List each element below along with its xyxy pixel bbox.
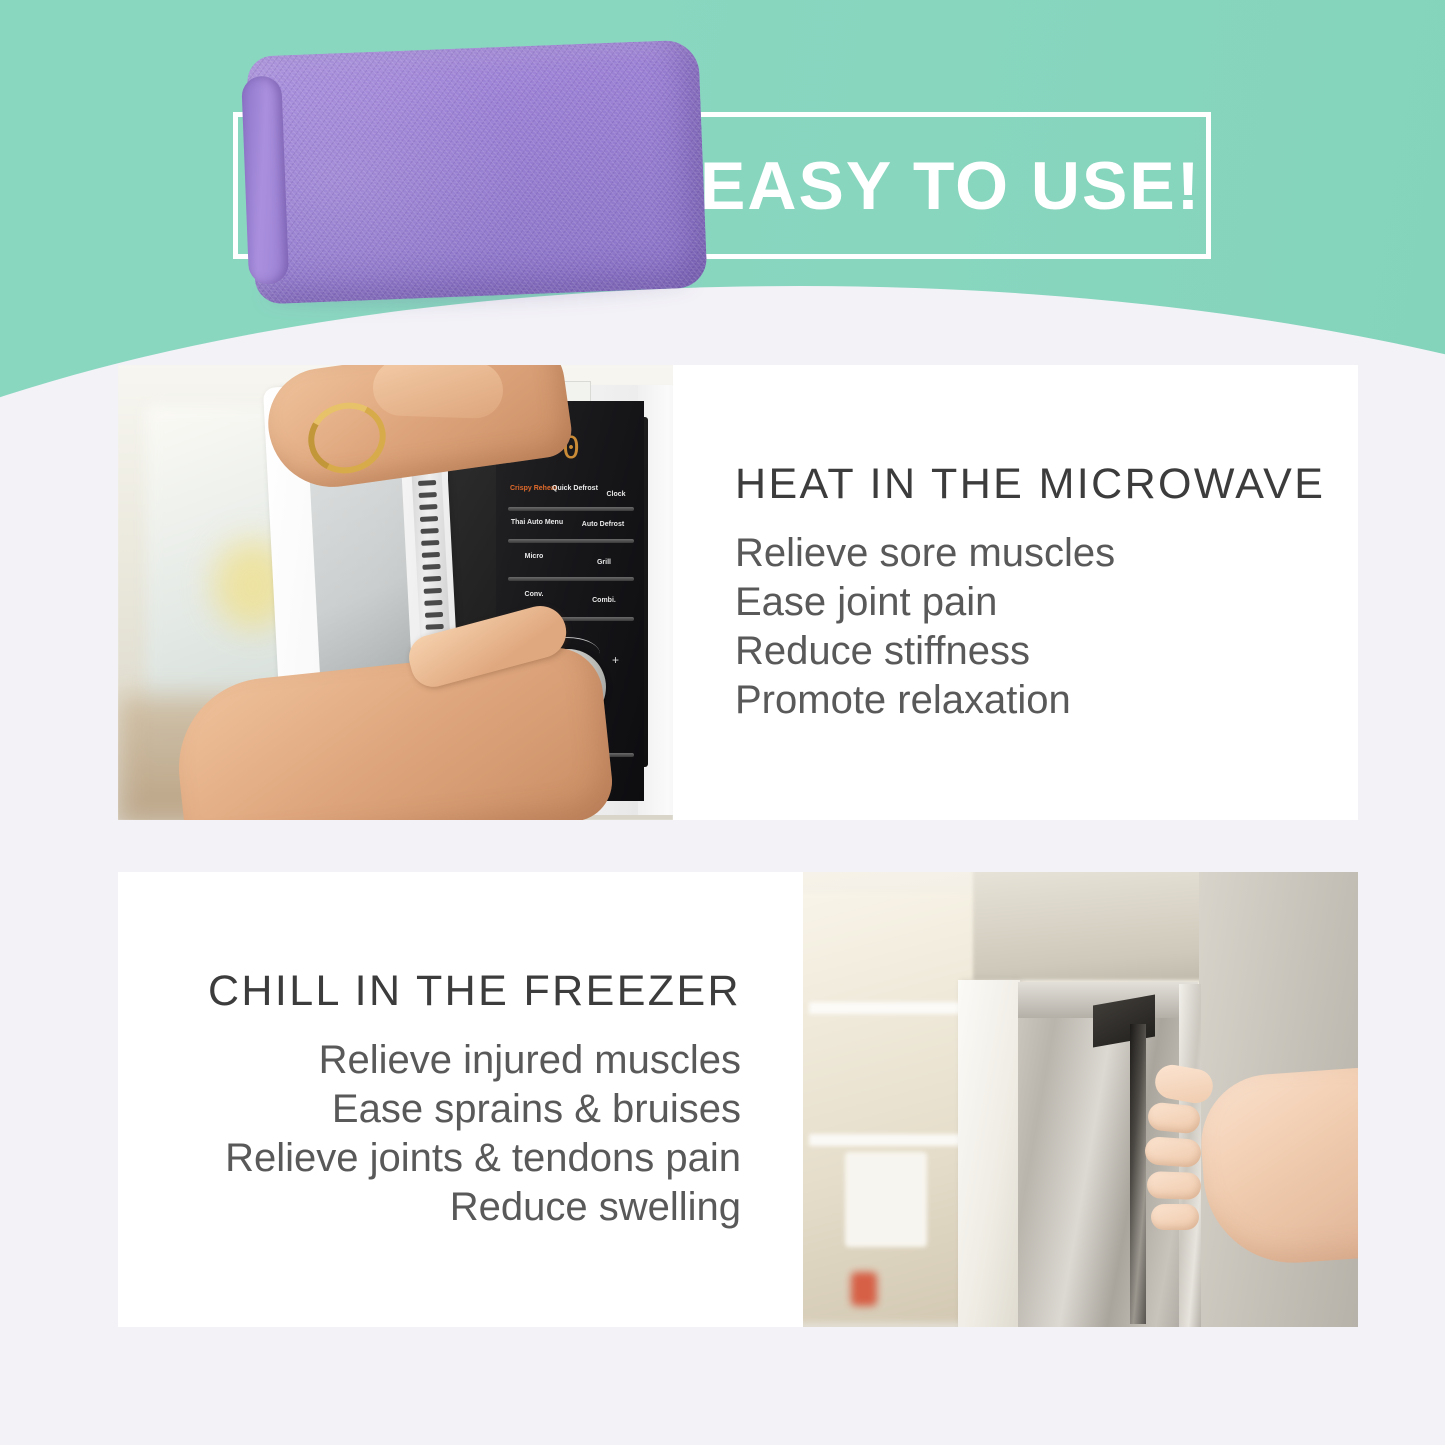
chill-section-card: CHILL IN THE FREEZER Relieve injured mus… (118, 872, 1358, 1327)
chill-text-block: CHILL IN THE FREEZER Relieve injured mus… (118, 967, 803, 1233)
hand-finger (1147, 1171, 1202, 1200)
panel-button-auto-defrost[interactable]: Auto Defrost (572, 521, 634, 528)
list-item: Reduce stiffness (735, 627, 1358, 676)
freezer-door-handle[interactable] (1130, 1024, 1146, 1324)
panel-separator-1 (508, 507, 634, 511)
heat-text-column: HEAT IN THE MICROWAVE Relieve sore muscl… (673, 365, 1358, 820)
chill-benefit-list: Relieve injured muscles Ease sprains & b… (118, 1036, 741, 1233)
panel-separator-2 (508, 539, 634, 543)
panel-button-quick-defrost[interactable]: Quick Defrost (552, 485, 594, 492)
freezer-scene (803, 872, 1358, 1327)
panel-button-micro[interactable]: Micro (514, 553, 554, 560)
list-item: Ease joint pain (735, 578, 1358, 627)
list-item: Ease sprains & bruises (118, 1085, 741, 1134)
panel-button-thai-auto-menu[interactable]: Thai Auto Menu (504, 519, 570, 526)
heat-text-block: HEAT IN THE MICROWAVE Relieve sore muscl… (673, 460, 1358, 726)
hand-finger (1151, 1204, 1199, 1230)
panel-separator-3 (508, 577, 634, 581)
panel-button-clock[interactable]: Clock (598, 491, 634, 498)
panel-button-crispy-reheat[interactable]: Crispy Reheat (510, 485, 550, 492)
microwave-photo: 0 Crispy Reheat Quick Defrost Clock Thai… (118, 365, 673, 820)
product-body (246, 39, 707, 304)
upper-hand-fingers (372, 365, 504, 419)
page-title: EASY TO USE! (700, 140, 1200, 232)
list-item: Relieve sore muscles (735, 529, 1358, 578)
freezer-photo (803, 872, 1358, 1327)
heat-benefit-list: Relieve sore muscles Ease joint pain Red… (735, 529, 1358, 726)
heat-section-card: 0 Crispy Reheat Quick Defrost Clock Thai… (118, 365, 1358, 820)
fridge-red-item (851, 1272, 877, 1306)
chill-text-column: CHILL IN THE FREEZER Relieve injured mus… (118, 872, 803, 1327)
fridge-bin (845, 1152, 927, 1247)
dial-plus-label: + (612, 653, 619, 667)
heat-heading: HEAT IN THE MICROWAVE (735, 460, 1358, 509)
list-item: Relieve injured muscles (118, 1036, 741, 1085)
list-item: Relieve joints & tendons pain (118, 1134, 741, 1183)
product-infographic: EASY TO USE! (0, 0, 1445, 1445)
list-item: Promote relaxation (735, 676, 1358, 725)
panel-button-combi[interactable]: Combi. (584, 597, 624, 604)
freezer-door-inner-edge (958, 980, 1020, 1327)
product-fleece-texture (246, 39, 707, 304)
panel-button-conv[interactable]: Conv. (514, 591, 554, 598)
product-folded-edge (241, 75, 289, 284)
hand-finger (1144, 1136, 1202, 1168)
list-item: Reduce swelling (118, 1183, 741, 1232)
microwave-scene: 0 Crispy Reheat Quick Defrost Clock Thai… (118, 365, 673, 820)
chill-heading: CHILL IN THE FREEZER (118, 967, 741, 1016)
product-wrap-image (246, 39, 707, 304)
panel-button-grill[interactable]: Grill (584, 559, 624, 566)
